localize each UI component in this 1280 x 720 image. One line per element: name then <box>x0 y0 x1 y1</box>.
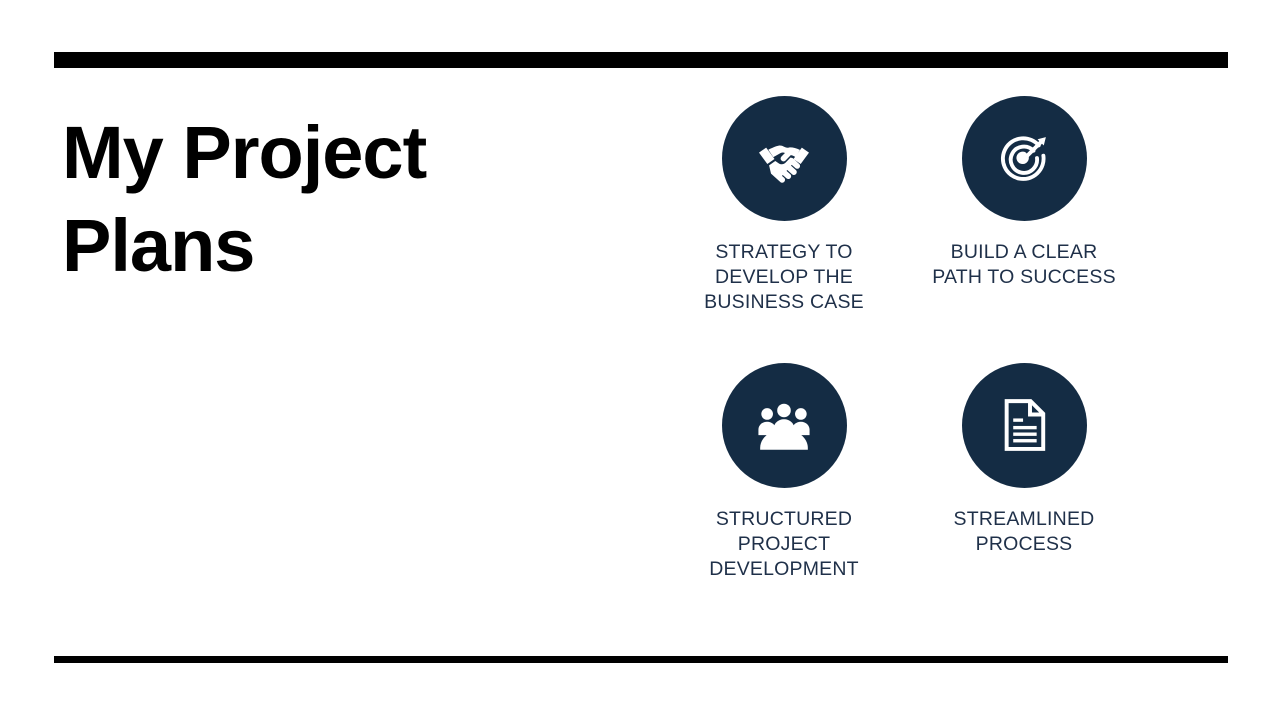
feature-caption: STREAMLINED PROCESS <box>954 507 1095 557</box>
feature-card-streamlined-process[interactable]: STREAMLINED PROCESS <box>904 363 1144 582</box>
page-title-line-2: Plans <box>62 199 602 292</box>
feature-grid: STRATEGY TO DEVELOP THE BUSINESS CASE <box>664 96 1144 582</box>
icon-badge <box>962 96 1087 221</box>
icon-badge <box>722 96 847 221</box>
target-arrow-icon <box>993 128 1055 190</box>
feature-caption: BUILD A CLEAR PATH TO SUCCESS <box>932 240 1116 290</box>
page-title: My Project Plans <box>62 106 602 292</box>
icon-badge <box>962 363 1087 488</box>
slide: My Project Plans STRATEGY TO DEV <box>0 0 1280 720</box>
handshake-icon <box>753 128 815 190</box>
icon-badge <box>722 363 847 488</box>
feature-card-clear-path[interactable]: BUILD A CLEAR PATH TO SUCCESS <box>904 96 1144 315</box>
feature-card-structured-development[interactable]: STRUCTURED PROJECT DEVELOPMENT <box>664 363 904 582</box>
feature-caption: STRUCTURED PROJECT DEVELOPMENT <box>709 507 859 582</box>
document-icon <box>994 395 1054 455</box>
bottom-divider-rule <box>54 656 1228 663</box>
top-divider-rule <box>54 52 1228 68</box>
people-group-icon <box>753 394 815 456</box>
page-title-line-1: My Project <box>62 106 602 199</box>
feature-caption: STRATEGY TO DEVELOP THE BUSINESS CASE <box>704 240 864 315</box>
feature-card-strategy[interactable]: STRATEGY TO DEVELOP THE BUSINESS CASE <box>664 96 904 315</box>
